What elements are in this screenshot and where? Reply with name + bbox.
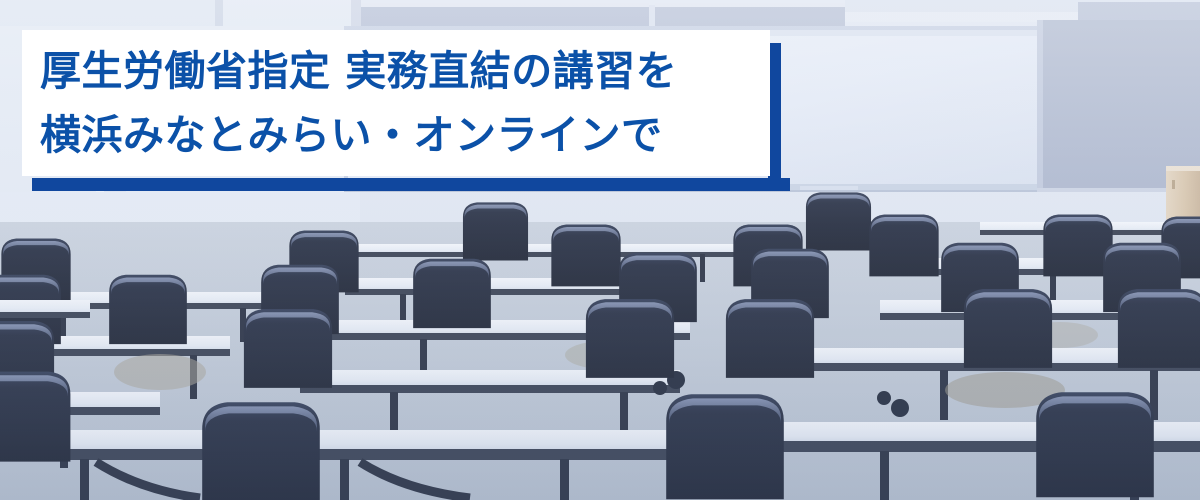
classroom-hero-banner: 厚生労働省指定 実務直結の講習を 横浜みなとみらい・オンラインで — [0, 0, 1200, 500]
headline-block: 厚生労働省指定 実務直結の講習を 横浜みなとみらい・オンラインで — [22, 30, 770, 176]
headline-accent-bar-bottom — [32, 178, 790, 191]
headline-line-1: 厚生労働省指定 実務直結の講習を — [40, 39, 770, 103]
headline-line-2: 横浜みなとみらい・オンラインで — [40, 103, 770, 167]
headline-panel: 厚生労働省指定 実務直結の講習を 横浜みなとみらい・オンラインで — [22, 30, 770, 176]
